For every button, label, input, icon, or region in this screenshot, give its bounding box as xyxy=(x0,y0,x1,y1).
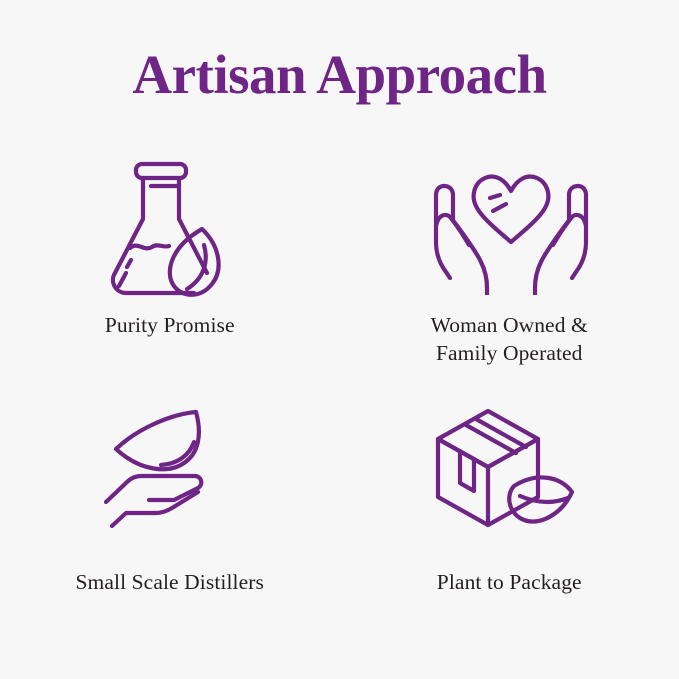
feature-label-purity-promise: Purity Promise xyxy=(105,312,235,340)
artisan-approach-panel: Artisan Approach xyxy=(0,0,679,679)
feature-label-woman-owned: Woman Owned & Family Operated xyxy=(431,312,588,367)
feature-card-purity-promise: Purity Promise xyxy=(0,150,340,395)
feature-card-woman-owned: Woman Owned & Family Operated xyxy=(340,150,679,395)
page-title: Artisan Approach xyxy=(0,46,679,104)
feature-label-plant-to-package: Plant to Package xyxy=(437,569,582,597)
feature-grid: Purity Promise xyxy=(0,150,679,640)
feature-label-small-scale-distillers: Small Scale Distillers xyxy=(75,569,264,597)
hands-heart-icon xyxy=(426,150,592,298)
box-leaf-icon xyxy=(428,395,590,543)
feature-card-small-scale-distillers: Small Scale Distillers xyxy=(0,395,340,640)
hand-leaf-icon xyxy=(92,395,248,543)
flask-leaf-icon xyxy=(92,150,248,298)
feature-card-plant-to-package: Plant to Package xyxy=(340,395,679,640)
